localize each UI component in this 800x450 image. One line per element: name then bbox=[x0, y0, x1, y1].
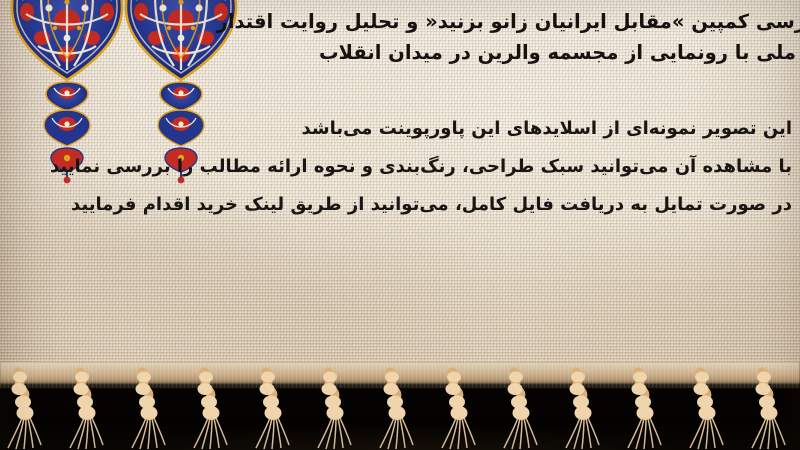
fringe-tassel bbox=[120, 366, 180, 450]
body-line-sample-notice: این تصویر نمونه‌ای از اسلایدهای این پاور… bbox=[0, 110, 792, 148]
fringe-tassel bbox=[554, 366, 614, 450]
body-line-purchase-link: در صورت تمایل به دریافت فایل کامل، می‌تو… bbox=[0, 186, 792, 224]
fringe-tassel bbox=[368, 366, 428, 450]
fringe-tassel bbox=[58, 366, 118, 450]
slide-title-line-2: ملی با رونمایی از مجسمه والرین در میدان … bbox=[0, 37, 796, 68]
fringe-tassel bbox=[492, 366, 552, 450]
body-line-design-review: با مشاهده آن می‌توانید سبک طراحی، رنگ‌بن… bbox=[0, 148, 792, 186]
fringe-tassel bbox=[306, 366, 366, 450]
slide-title: رسی کمپین »مقابل ایرانیان زانو بزنید« و … bbox=[0, 6, 800, 68]
fringe-tassel bbox=[740, 366, 800, 450]
slide-title-line-1: رسی کمپین »مقابل ایرانیان زانو بزنید« و … bbox=[0, 6, 800, 37]
fringe-tassel bbox=[616, 366, 676, 450]
fringe-tassel bbox=[678, 366, 738, 450]
fringe-tassel bbox=[0, 366, 56, 450]
slide-body-text: این تصویر نمونه‌ای از اسلایدهای این پاور… bbox=[0, 110, 800, 224]
fringe-tassel bbox=[244, 366, 304, 450]
slide-canvas: رسی کمپین »مقابل ایرانیان زانو بزنید« و … bbox=[0, 0, 800, 450]
carpet-knotted-fringe bbox=[0, 362, 800, 450]
fringe-tassel bbox=[182, 366, 242, 450]
fringe-tassel bbox=[430, 366, 490, 450]
